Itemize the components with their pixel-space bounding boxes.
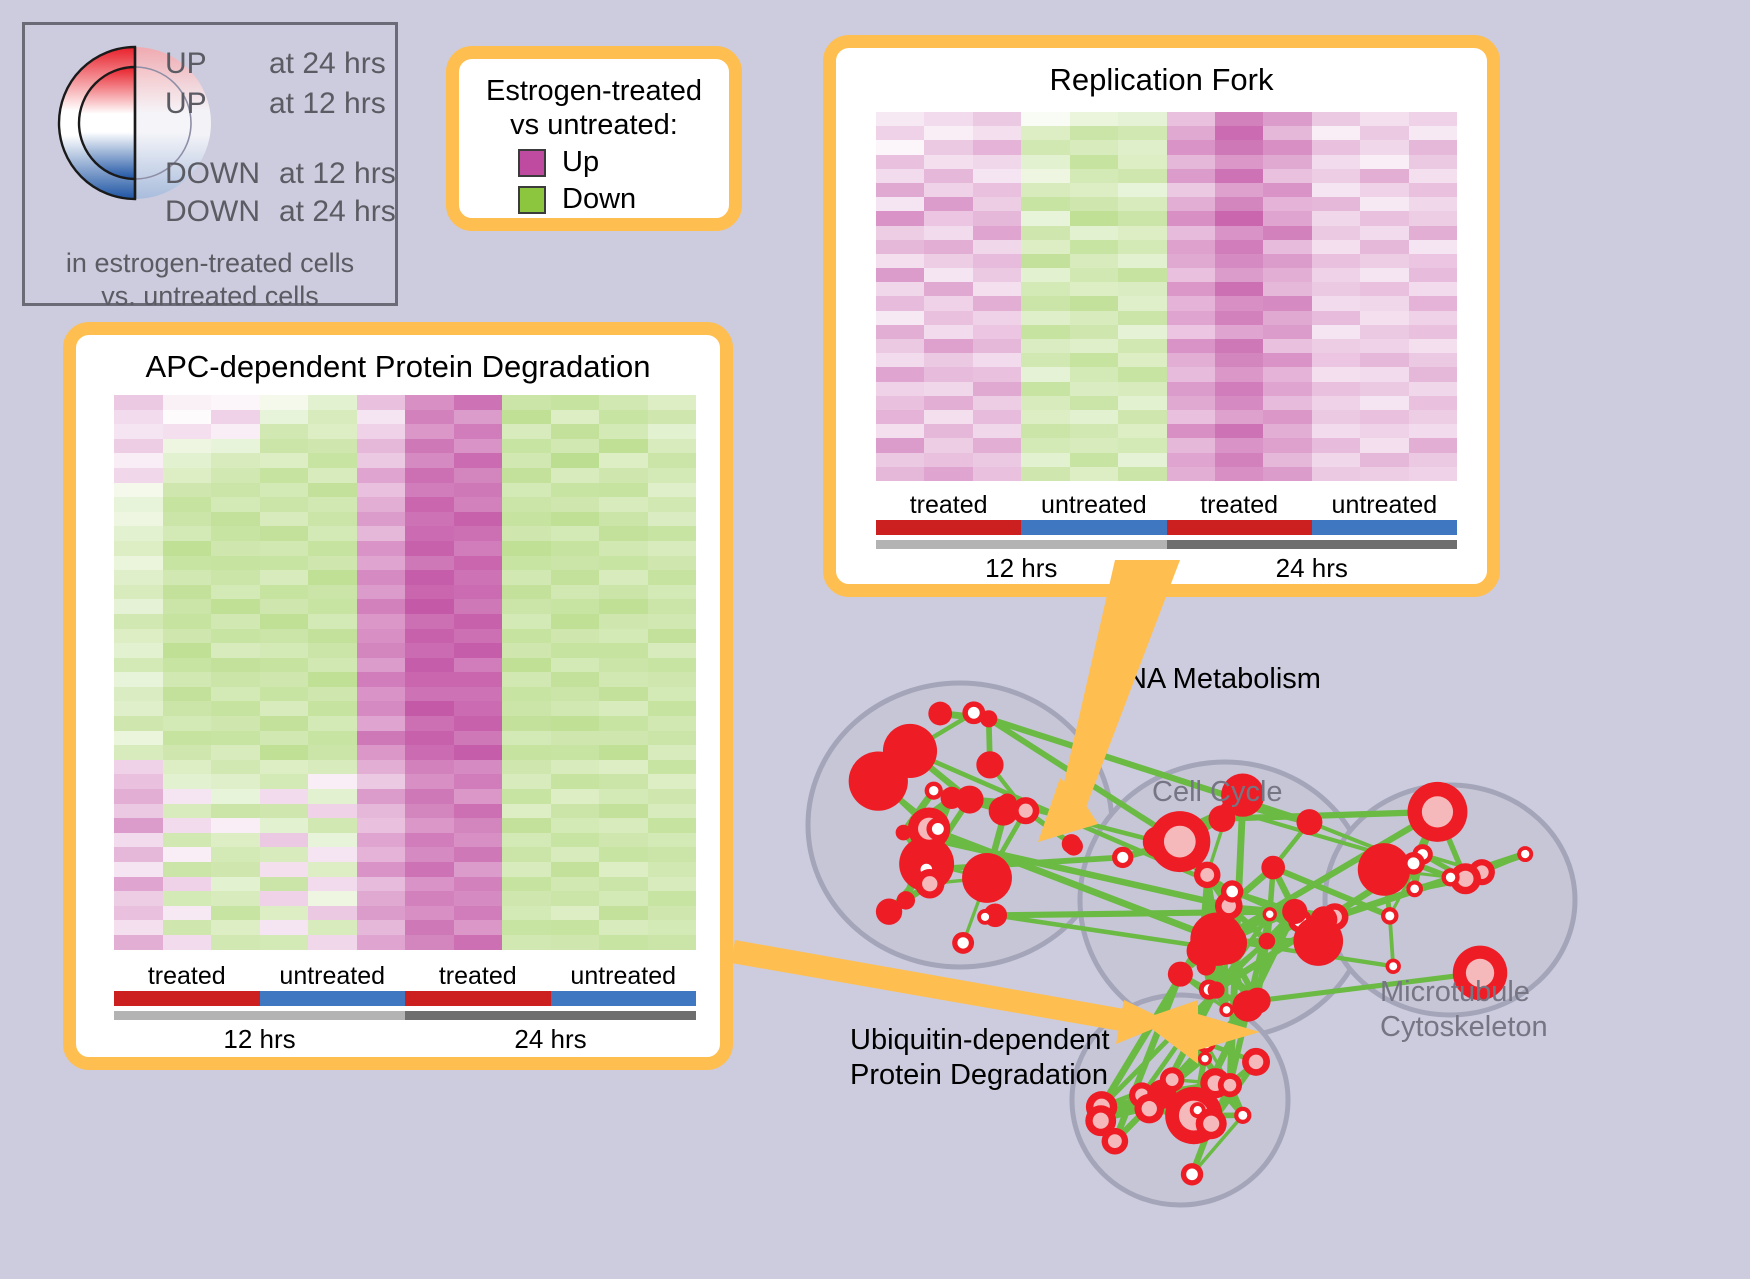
heatmap-cell (648, 774, 697, 789)
heatmap-cell (454, 920, 503, 935)
heatmap-cell (599, 906, 648, 921)
heatmap-cell (114, 935, 163, 950)
heatmap-cell (1312, 226, 1360, 240)
heatmap-cell (924, 126, 972, 140)
heatmap-cell (1021, 396, 1069, 410)
heatmap-cell (211, 570, 260, 585)
heatmap-cell (163, 599, 212, 614)
network-node[interactable] (1085, 1105, 1116, 1136)
heatmap-cell (211, 410, 260, 425)
heatmap-cell (1021, 424, 1069, 438)
heatmap-cell (211, 862, 260, 877)
legend-footer-line1: in estrogen-treated cells (25, 247, 395, 280)
heatmap-cell (1263, 467, 1311, 481)
heatmap-cell (876, 453, 924, 467)
heatmap-cell (1312, 467, 1360, 481)
heatmap-cell (454, 614, 503, 629)
heatmap-cell (876, 396, 924, 410)
heatmap-cell (1021, 240, 1069, 254)
heatmap-cell (1263, 396, 1311, 410)
heatmap-cell (211, 701, 260, 716)
heatmap-cell (1167, 140, 1215, 154)
heatmap-cell (1263, 268, 1311, 282)
heatmap-cell (357, 847, 406, 862)
heatmap-cell (648, 585, 697, 600)
heatmap-cell (260, 804, 309, 819)
heatmap-cell (551, 920, 600, 935)
heatmap-cell (1118, 311, 1166, 325)
group-label: untreated (551, 962, 697, 991)
heatmap-cell (551, 526, 600, 541)
heatmap-cell (973, 226, 1021, 240)
heatmap-cell (454, 701, 503, 716)
network-node[interactable] (1192, 932, 1223, 963)
network-node[interactable] (849, 751, 908, 810)
heatmap-cell (454, 906, 503, 921)
heatmap-cell (114, 745, 163, 760)
legend-updown-title: Estrogen-treated vs untreated: (459, 75, 729, 142)
network-node[interactable] (1242, 1048, 1270, 1076)
heatmap-cell (1263, 282, 1311, 296)
heatmap-cell (308, 424, 357, 439)
heatmap-cell (1312, 438, 1360, 452)
heatmap-cell (599, 512, 648, 527)
heatmap-cell (260, 541, 309, 556)
heatmap-cell (1215, 353, 1263, 367)
heatmap-cell (973, 140, 1021, 154)
network-node[interactable] (1149, 811, 1210, 872)
heatmap-cell (163, 526, 212, 541)
heatmap-cell (1118, 424, 1166, 438)
heatmap-cell (1070, 240, 1118, 254)
heatmap-cell (163, 468, 212, 483)
heatmap-cell (1215, 453, 1263, 467)
network-node[interactable] (1407, 782, 1467, 842)
heatmap-cell (1021, 382, 1069, 396)
heatmap-cell (1360, 453, 1408, 467)
heatmap-cell (357, 410, 406, 425)
heatmap-cell (1215, 254, 1263, 268)
heatmap-cell (1263, 140, 1311, 154)
cluster-label-cell-cycle: Cell Cycle (1152, 775, 1283, 810)
heatmap-cell (1215, 112, 1263, 126)
heatmap-cell (163, 512, 212, 527)
heatmap-cell (551, 614, 600, 629)
heatmap-cell (599, 701, 648, 716)
heatmap-cell (454, 877, 503, 892)
heatmap-cell (308, 541, 357, 556)
heatmap-cell (1167, 169, 1215, 183)
heatmap-cell (924, 438, 972, 452)
network-node[interactable] (1064, 837, 1082, 855)
heatmap-cell (405, 599, 454, 614)
heatmap-cell (1167, 396, 1215, 410)
heatmap-cell (648, 731, 697, 746)
heatmap-cell (114, 512, 163, 527)
heatmap-cell (551, 745, 600, 760)
heatmap-cell (1070, 140, 1118, 154)
heatmap-cell (357, 439, 406, 454)
heatmap-cell (648, 935, 697, 950)
heatmap-cell (357, 614, 406, 629)
heatmap-cell (1070, 126, 1118, 140)
heatmap-cell (1263, 382, 1311, 396)
heatmap-cell (1360, 311, 1408, 325)
heatmap-cell (357, 658, 406, 673)
heatmap-cell (260, 658, 309, 673)
heatmap-cell (924, 353, 972, 367)
heatmap-cell (1263, 367, 1311, 381)
heatmap-cell (1215, 424, 1263, 438)
heatmap-cell (163, 833, 212, 848)
heatmap-cell (163, 453, 212, 468)
heatmap-cell (648, 920, 697, 935)
heatmap-cell (1167, 325, 1215, 339)
network-node[interactable] (1168, 962, 1193, 987)
heatmap-cell (114, 556, 163, 571)
heatmap-cell (357, 804, 406, 819)
heatmap-cell (648, 468, 697, 483)
heatmap-cell (551, 424, 600, 439)
heatmap-cell (405, 760, 454, 775)
network-node[interactable] (1259, 933, 1276, 950)
heatmap-cell (357, 570, 406, 585)
heatmap-cell (648, 526, 697, 541)
heatmap-cell (1167, 240, 1215, 254)
heatmap-cell (648, 614, 697, 629)
heatmap-cell (1263, 339, 1311, 353)
heatmap-cell (454, 410, 503, 425)
apc-degradation-heatmap (114, 395, 696, 950)
heatmap-cell (211, 906, 260, 921)
heatmap-cell (1118, 382, 1166, 396)
heatmap-cell (357, 643, 406, 658)
heatmap-cell (163, 760, 212, 775)
heatmap-cell (648, 453, 697, 468)
heatmap-cell (502, 891, 551, 906)
heatmap-cell (1263, 126, 1311, 140)
heatmap-cell (1118, 268, 1166, 282)
heatmap-cell (502, 556, 551, 571)
heatmap-cell (1021, 282, 1069, 296)
network-node[interactable] (1218, 1073, 1242, 1097)
heatmap-cell (163, 672, 212, 687)
heatmap-cell (1360, 226, 1408, 240)
heatmap-cell (973, 382, 1021, 396)
heatmap-cell (1021, 268, 1069, 282)
heatmap-cell (1360, 296, 1408, 310)
heatmap-cell (308, 410, 357, 425)
network-node[interactable] (1134, 1094, 1164, 1124)
heatmap-cell (1263, 438, 1311, 452)
heatmap-cell (1360, 353, 1408, 367)
heatmap-cell (1070, 112, 1118, 126)
up-swatch-icon (518, 149, 546, 177)
heatmap-cell (924, 169, 972, 183)
heatmap-cell (1118, 254, 1166, 268)
heatmap-cell (357, 818, 406, 833)
heatmap-cell (599, 833, 648, 848)
heatmap-cell (1263, 424, 1311, 438)
network-node[interactable] (1208, 982, 1225, 999)
heatmap-cell (502, 483, 551, 498)
heatmap-cell (1409, 453, 1457, 467)
heatmap-cell (308, 862, 357, 877)
group-bar-untreated (1312, 520, 1457, 535)
heatmap-cell (163, 497, 212, 512)
network-node[interactable] (1198, 1052, 1212, 1066)
replication-fork-title: Replication Fork (836, 62, 1487, 98)
network-node[interactable] (1181, 1163, 1203, 1185)
heatmap-cell (502, 774, 551, 789)
heatmap-cell (114, 483, 163, 498)
heatmap-cell (405, 658, 454, 673)
heatmap-cell (1021, 126, 1069, 140)
heatmap-cell (357, 672, 406, 687)
heatmap-cell (1021, 140, 1069, 154)
heatmap-cell (357, 774, 406, 789)
heatmap-cell (1409, 339, 1457, 353)
network-node[interactable] (1261, 856, 1285, 880)
network-node[interactable] (980, 710, 997, 727)
heatmap-cell (114, 541, 163, 556)
heatmap-cell (357, 453, 406, 468)
heatmap-cell (876, 183, 924, 197)
heatmap-cell (599, 687, 648, 702)
network-node[interactable] (1358, 843, 1411, 896)
group-bar-treated (114, 991, 260, 1006)
network-node[interactable] (952, 932, 974, 954)
heatmap-cell (973, 155, 1021, 169)
heatmap-cell (260, 643, 309, 658)
network-node[interactable] (1402, 852, 1425, 875)
heatmap-cell (551, 672, 600, 687)
heatmap-cell (454, 395, 503, 410)
heatmap-cell (648, 570, 697, 585)
heatmap-cell (1312, 169, 1360, 183)
heatmap-cell (924, 155, 972, 169)
network-node[interactable] (1386, 959, 1401, 974)
heatmap-cell (1263, 211, 1311, 225)
network-node[interactable] (1244, 988, 1270, 1014)
heatmap-cell (357, 687, 406, 702)
heatmap-cell (1215, 282, 1263, 296)
heatmap-cell (454, 687, 503, 702)
heatmap-cell (454, 439, 503, 454)
heatmap-cell (1021, 296, 1069, 310)
heatmap-cell (599, 424, 648, 439)
heatmap-cell (876, 325, 924, 339)
heatmap-cell (1118, 353, 1166, 367)
heatmap-cell (1167, 211, 1215, 225)
legend-time-down-12: at 12 hrs (279, 157, 396, 191)
heatmap-cell (502, 877, 551, 892)
heatmap-cell (1070, 325, 1118, 339)
heatmap-cell (1118, 467, 1166, 481)
heatmap-cell (114, 585, 163, 600)
heatmap-cell (876, 169, 924, 183)
heatmap-cell (1409, 169, 1457, 183)
heatmap-cell (357, 497, 406, 512)
heatmap-cell (1118, 183, 1166, 197)
heatmap-cell (1021, 410, 1069, 424)
heatmap-cell (876, 382, 924, 396)
heatmap-cell (357, 833, 406, 848)
heatmap-cell (308, 483, 357, 498)
heatmap-cell (260, 497, 309, 512)
network-node[interactable] (897, 891, 915, 909)
legend-updown-title-line1: Estrogen-treated (459, 75, 729, 109)
heatmap-cell (973, 112, 1021, 126)
heatmap-cell (114, 920, 163, 935)
network-node[interactable] (1234, 1107, 1251, 1124)
heatmap-cell (599, 468, 648, 483)
heatmap-cell (1021, 183, 1069, 197)
heatmap-cell (114, 629, 163, 644)
heatmap-cell (163, 935, 212, 950)
heatmap-cell (1360, 112, 1408, 126)
network-node[interactable] (1296, 809, 1322, 835)
network-node[interactable] (989, 796, 1019, 826)
heatmap-cell (551, 818, 600, 833)
heatmap-cell (502, 395, 551, 410)
heatmap-cell (211, 395, 260, 410)
network-node[interactable] (962, 853, 1012, 903)
heatmap-cell (454, 468, 503, 483)
heatmap-cell (599, 556, 648, 571)
legend-footer: in estrogen-treated cells vs. untreated … (25, 247, 395, 313)
heatmap-cell (454, 556, 503, 571)
heatmap-cell (1360, 169, 1408, 183)
heatmap-cell (502, 453, 551, 468)
heatmap-cell (357, 891, 406, 906)
replication-fork-group-labels: treated untreated treated untreated (876, 491, 1457, 520)
heatmap-cell (599, 410, 648, 425)
network-node[interactable] (1196, 1034, 1215, 1053)
heatmap-cell (551, 833, 600, 848)
heatmap-cell (405, 614, 454, 629)
heatmap-cell (454, 716, 503, 731)
heatmap-cell (502, 862, 551, 877)
heatmap-cell (308, 731, 357, 746)
network-node[interactable] (915, 869, 944, 898)
network-node[interactable] (977, 909, 993, 925)
heatmap-cell (876, 438, 924, 452)
heatmap-cell (454, 570, 503, 585)
network-node[interactable] (925, 782, 943, 800)
heatmap-cell (308, 920, 357, 935)
heatmap-cell (454, 599, 503, 614)
heatmap-cell (973, 311, 1021, 325)
network-node[interactable] (1112, 847, 1133, 868)
heatmap-cell (502, 672, 551, 687)
network-node[interactable] (1263, 907, 1277, 921)
network-node[interactable] (1406, 880, 1423, 897)
heatmap-cell (114, 818, 163, 833)
heatmap-cell (1360, 424, 1408, 438)
heatmap-cell (405, 424, 454, 439)
heatmap-cell (1215, 226, 1263, 240)
heatmap-cell (1167, 438, 1215, 452)
network-node[interactable] (1517, 846, 1533, 862)
network-node[interactable] (1219, 1003, 1233, 1017)
panel-apc-degradation: APC-dependent Protein Degradation treate… (63, 322, 733, 1070)
heatmap-cell (551, 410, 600, 425)
heatmap-cell (114, 701, 163, 716)
heatmap-cell (1070, 226, 1118, 240)
heatmap-cell (599, 672, 648, 687)
apc-time-labels: 12 hrs 24 hrs (114, 1024, 696, 1055)
heatmap-cell (599, 760, 648, 775)
heatmap-cell (260, 833, 309, 848)
heatmap-cell (405, 395, 454, 410)
network-node[interactable] (1441, 868, 1459, 886)
heatmap-cell (260, 716, 309, 731)
heatmap-cell (405, 439, 454, 454)
time-label: 24 hrs (1167, 553, 1458, 584)
network-node[interactable] (1221, 880, 1243, 902)
heatmap-cell (1021, 438, 1069, 452)
heatmap-cell (405, 453, 454, 468)
heatmap-cell (260, 920, 309, 935)
heatmap-cell (973, 367, 1021, 381)
network-node[interactable] (956, 786, 984, 814)
time-bar-12hrs (114, 1011, 405, 1020)
heatmap-cell (1409, 282, 1457, 296)
heatmap-cell (1021, 367, 1069, 381)
heatmap-cell (551, 395, 600, 410)
group-label: untreated (260, 962, 406, 991)
network-node[interactable] (1293, 916, 1343, 966)
network-node[interactable] (926, 817, 949, 840)
heatmap-cell (1167, 367, 1215, 381)
heatmap-cell (308, 804, 357, 819)
heatmap-cell (454, 862, 503, 877)
network-node[interactable] (1381, 907, 1398, 924)
heatmap-cell (1118, 438, 1166, 452)
network-node[interactable] (1282, 899, 1307, 924)
heatmap-cell (308, 395, 357, 410)
heatmap-cell (163, 745, 212, 760)
heatmap-cell (114, 877, 163, 892)
network-node[interactable] (1160, 1067, 1185, 1092)
heatmap-cell (1215, 367, 1263, 381)
network-node[interactable] (928, 702, 952, 726)
heatmap-cell (551, 891, 600, 906)
heatmap-cell (114, 833, 163, 848)
heatmap-cell (1312, 296, 1360, 310)
heatmap-cell (211, 920, 260, 935)
heatmap-cell (648, 410, 697, 425)
heatmap-cell (551, 585, 600, 600)
heatmap-cell (599, 877, 648, 892)
heatmap-cell (502, 614, 551, 629)
heatmap-cell (454, 804, 503, 819)
heatmap-cell (163, 658, 212, 673)
network-node[interactable] (976, 751, 1003, 778)
heatmap-cell (1070, 382, 1118, 396)
heatmap-cell (163, 847, 212, 862)
heatmap-cell (1263, 311, 1311, 325)
heatmap-cell (973, 410, 1021, 424)
heatmap-cell (599, 804, 648, 819)
heatmap-cell (308, 906, 357, 921)
heatmap-cell (454, 658, 503, 673)
heatmap-cell (1167, 296, 1215, 310)
heatmap-cell (114, 891, 163, 906)
heatmap-cell (211, 833, 260, 848)
network-node[interactable] (1196, 1108, 1227, 1139)
